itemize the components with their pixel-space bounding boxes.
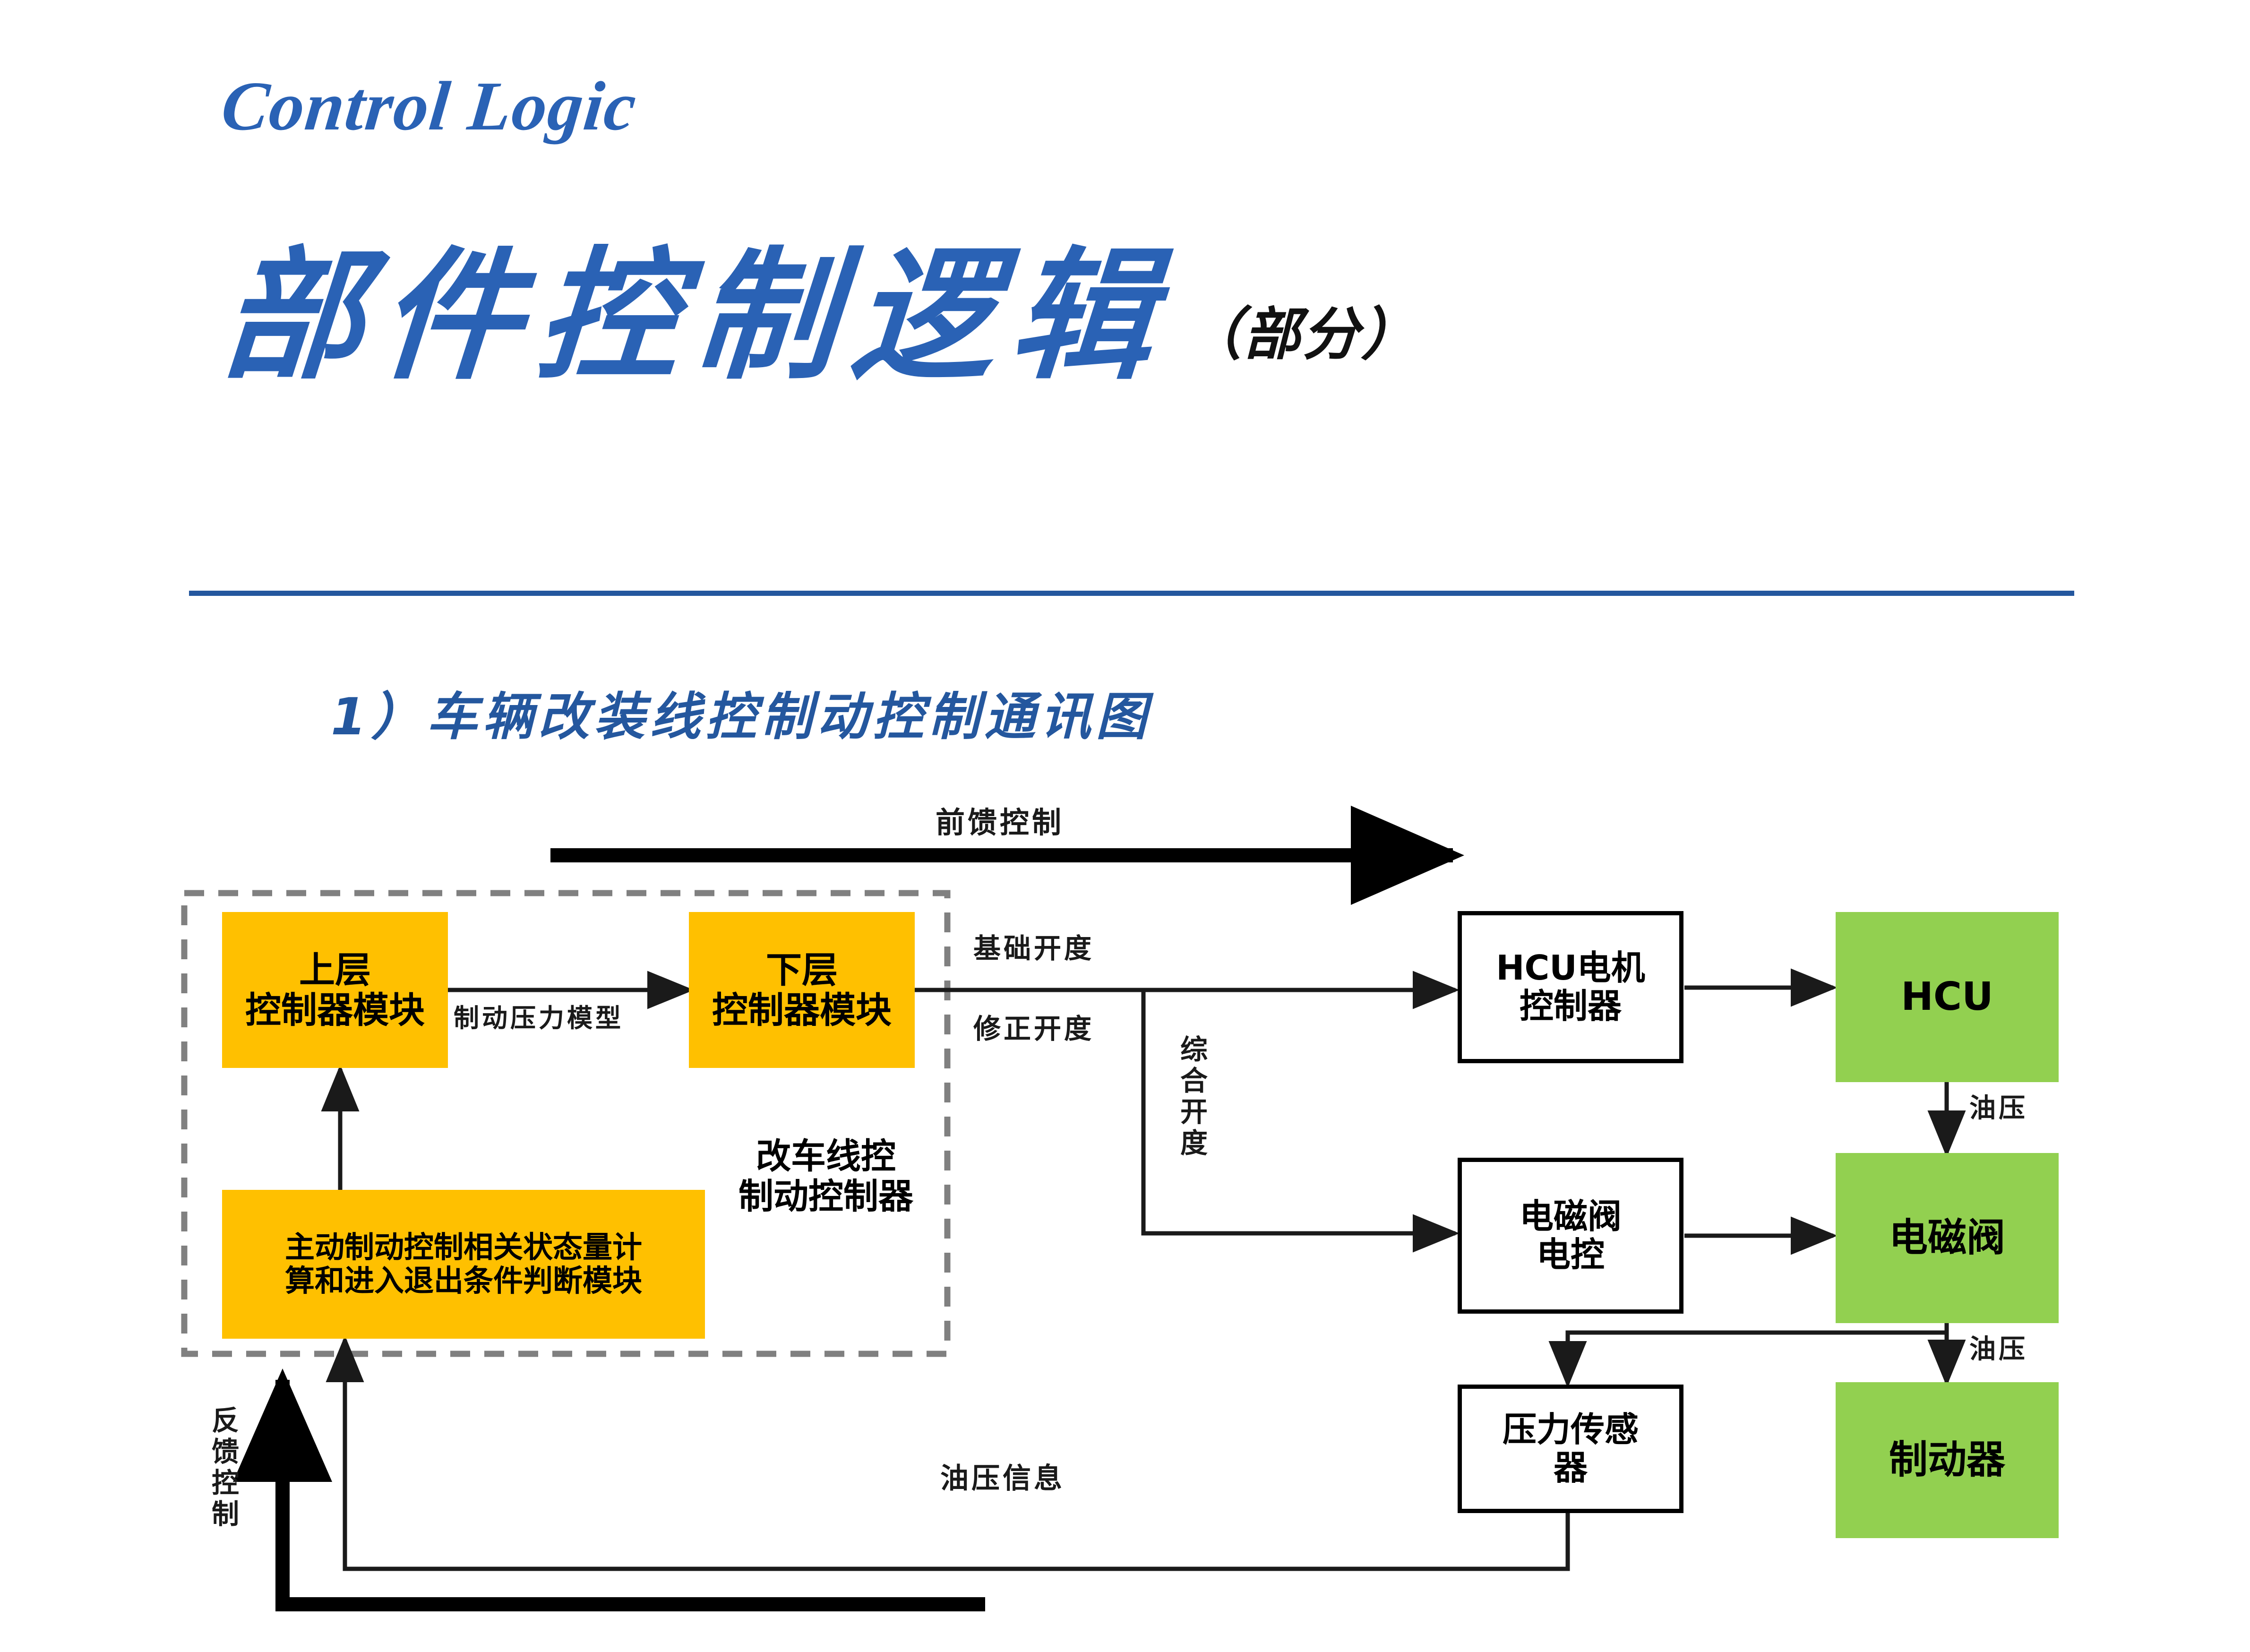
node-state-calc-module[interactable]: 主动制动控制相关状态量计 算和进入退出条件判断模块	[222, 1190, 705, 1339]
label-brake-pressure-model: 制动压力模型	[454, 997, 624, 1034]
label-feedforward: 前馈控制	[936, 799, 1064, 841]
label-combined-opening: 综合开度	[1172, 1035, 1211, 1160]
label-corrected-opening: 修正开度	[973, 1007, 1094, 1046]
edge-valve-to-sensor	[1568, 1333, 1947, 1384]
node-hcu-motor-controller[interactable]: HCU电机 控制器	[1458, 911, 1683, 1063]
node-lower-controller[interactable]: 下层 控制器模块	[689, 912, 915, 1068]
node-pressure-sensor[interactable]: 压力传感 器	[1458, 1385, 1683, 1513]
node-brake[interactable]: 制动器	[1836, 1382, 2059, 1538]
edge-sensor-feedback	[345, 1340, 1568, 1569]
control-flow-diagram: 上层 控制器模块 下层 控制器模块 主动制动控制相关状态量计 算和进入退出条件判…	[0, 0, 2250, 1652]
label-oil-pressure-2: 油压	[1969, 1328, 2028, 1366]
node-hcu[interactable]: HCU	[1836, 912, 2059, 1082]
node-solenoid-ecu[interactable]: 电磁阀 电控	[1458, 1158, 1683, 1314]
label-oil-pressure-info: 油压信息	[940, 1455, 1065, 1497]
node-upper-controller[interactable]: 上层 控制器模块	[222, 912, 448, 1068]
label-oil-pressure-1: 油压	[1969, 1087, 2028, 1125]
node-solenoid-valve[interactable]: 电磁阀	[1836, 1153, 2059, 1323]
label-feedback: 反馈控制	[203, 1406, 243, 1531]
label-base-opening: 基础开度	[973, 926, 1094, 966]
group-caption: 改车线控 制动控制器	[722, 1136, 930, 1217]
